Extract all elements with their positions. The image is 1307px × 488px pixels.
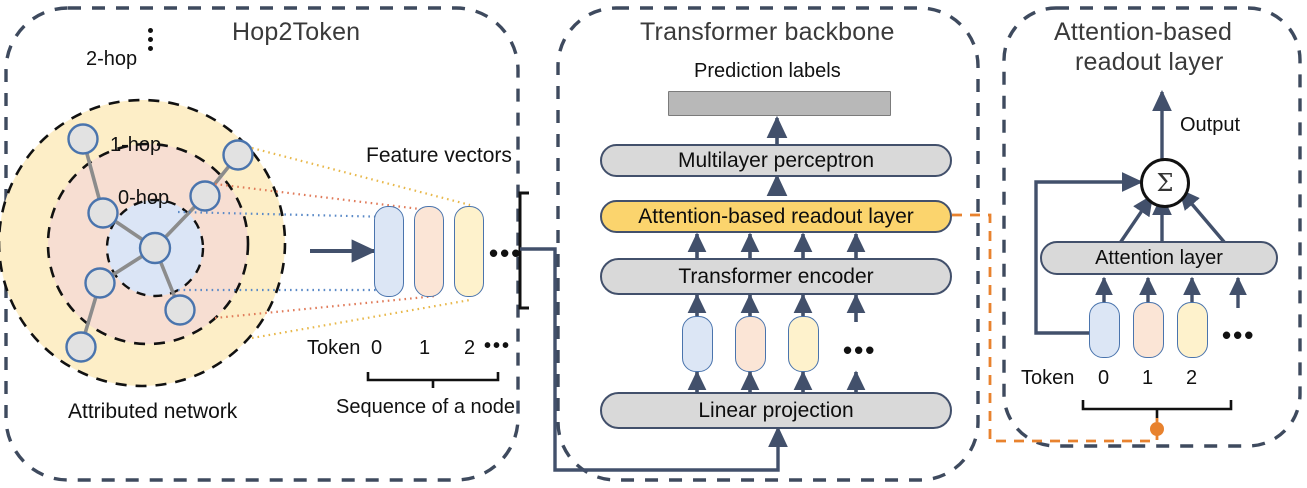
block-label: Attention layer <box>1095 247 1223 270</box>
hop0-label: 0-hop <box>118 187 169 210</box>
feature-vector-pill-0 <box>374 206 404 297</box>
right-token-index-1: 1 <box>1142 367 1153 390</box>
sum-symbol: Σ <box>1157 169 1174 197</box>
arrow-attention-to-sum <box>1180 190 1225 243</box>
backbone-token-pill-0 <box>682 316 713 372</box>
right-token-bracket <box>1083 400 1231 418</box>
readout-token-pill-2 <box>1177 302 1208 358</box>
graph-node <box>86 269 115 298</box>
orange-connector-dot <box>1150 422 1164 436</box>
dotted-line-hop2-bottom <box>252 300 470 338</box>
prediction-labels-bar <box>668 91 891 116</box>
arrow-attention-to-sum <box>1120 196 1152 243</box>
panel-title-transformer-backbone: Transformer backbone <box>640 18 895 47</box>
token-sequence-bracket <box>368 372 498 388</box>
readout-token-ellipsis: ••• <box>1222 322 1255 348</box>
left-token-label: Token <box>307 337 360 360</box>
feature-vector-ellipsis: ••• <box>489 240 522 266</box>
feature-vector-pill-1 <box>414 206 444 297</box>
feature-vector-pill-2 <box>454 206 484 297</box>
attributed-network-caption: Attributed network <box>68 400 237 424</box>
left-token-index-1: 1 <box>419 337 430 360</box>
sum-node: Σ <box>1140 158 1190 208</box>
backbone-token-pill-1 <box>735 316 766 372</box>
left-token-index-0: 0 <box>371 337 382 360</box>
left-token-ellipsis: ••• <box>484 336 511 356</box>
graph-node <box>224 141 253 170</box>
block-label: Linear projection <box>698 399 853 423</box>
block-multilayer-perceptron[interactable]: Multilayer perceptron <box>600 144 952 177</box>
block-label: Attention-based readout layer <box>638 205 914 229</box>
graph-node <box>67 333 96 362</box>
left-token-index-2: 2 <box>464 337 475 360</box>
right-token-label: Token <box>1021 367 1074 390</box>
sequence-of-a-node-caption: Sequence of a node <box>336 396 515 419</box>
graph-node <box>69 125 98 154</box>
graph-node <box>166 296 195 325</box>
backbone-token-pill-2 <box>788 316 819 372</box>
panel-title-hop2token: Hop2Token <box>232 18 360 47</box>
right-token-index-2: 2 <box>1186 367 1197 390</box>
graph-node <box>191 182 220 211</box>
diagram-root: Hop2Token 2-hop 1-hop 0-hop Attributed n… <box>0 0 1307 488</box>
hop2-label: 2-hop <box>86 48 137 71</box>
readout-token-pill-0 <box>1089 302 1120 358</box>
panel-title-readout-line2: readout layer <box>1075 48 1224 77</box>
readout-token-pill-1 <box>1133 302 1164 358</box>
prediction-labels-label: Prediction labels <box>694 60 841 83</box>
backbone-token-ellipsis: ••• <box>843 337 876 363</box>
hop-vertical-ellipsis <box>148 28 153 51</box>
right-token-index-0: 0 <box>1098 367 1109 390</box>
block-transformer-encoder[interactable]: Transformer encoder <box>600 258 952 295</box>
feature-vectors-label: Feature vectors <box>366 144 512 168</box>
graph-node <box>89 199 118 228</box>
block-attention-layer[interactable]: Attention layer <box>1040 241 1278 275</box>
block-attention-based-readout-layer[interactable]: Attention-based readout layer <box>600 200 952 233</box>
block-label: Multilayer perceptron <box>678 149 874 173</box>
graph-node-center <box>140 233 170 263</box>
output-label: Output <box>1180 114 1240 137</box>
panel-title-readout-line1: Attention-based <box>1054 18 1232 47</box>
block-label: Transformer encoder <box>678 265 873 289</box>
hop1-label: 1-hop <box>110 134 161 157</box>
block-linear-projection[interactable]: Linear projection <box>600 392 952 429</box>
